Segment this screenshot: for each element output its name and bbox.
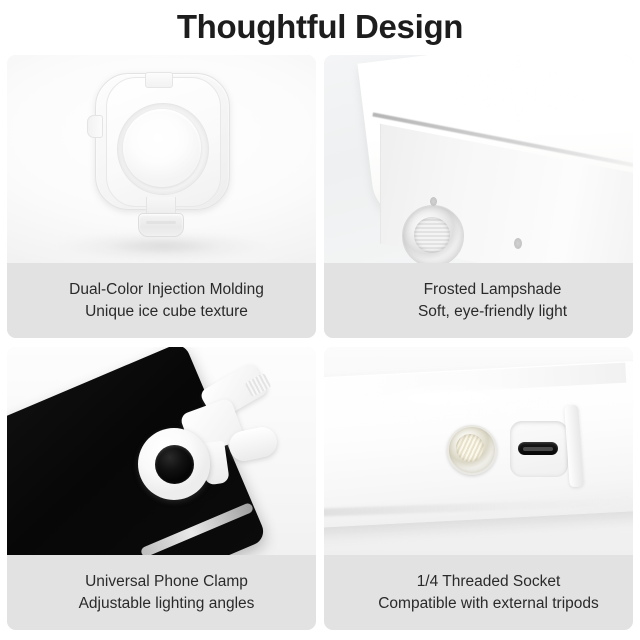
usb-c-port	[518, 442, 558, 455]
threaded-socket-and-usb-port-photo	[324, 347, 633, 555]
vent-hole	[430, 197, 437, 206]
caption-line-primary: Frosted Lampshade	[424, 279, 562, 301]
phone-clamp-on-smartphone-photo	[7, 347, 316, 555]
page-title: Thoughtful Design	[0, 5, 640, 49]
caption-line-secondary: Unique ice cube texture	[85, 301, 248, 323]
caption-line-primary: Dual-Color Injection Molding	[69, 279, 264, 301]
caption-line-primary: Universal Phone Clamp	[85, 571, 248, 593]
vent-hole	[514, 238, 522, 249]
feature-caption: Frosted Lampshade Soft, eye-friendly lig…	[324, 263, 633, 338]
feature-card-dual-color-injection-molding[interactable]: Dual-Color Injection Molding Unique ice …	[7, 55, 316, 338]
clamp-base	[138, 213, 184, 237]
specular-highlight	[444, 61, 594, 121]
product-feature-page: Thoughtful Design Dual-Color Injection M…	[0, 0, 640, 640]
light-top-hinge	[145, 72, 173, 88]
specular-highlight	[344, 381, 554, 415]
caption-line-secondary: Soft, eye-friendly light	[418, 301, 567, 323]
lens-diffuser	[123, 109, 201, 187]
feature-card-grid: Dual-Color Injection Molding Unique ice …	[7, 55, 633, 630]
side-socket	[402, 205, 464, 263]
feature-caption: 1/4 Threaded Socket Compatible with exte…	[324, 555, 633, 630]
cube-led-light-front-view-photo	[7, 55, 316, 263]
caption-line-secondary: Compatible with external tripods	[378, 593, 599, 615]
feature-caption: Dual-Color Injection Molding Unique ice …	[7, 263, 316, 338]
power-button	[87, 115, 103, 138]
feature-card-universal-phone-clamp[interactable]: Universal Phone Clamp Adjustable lightin…	[7, 347, 316, 630]
caption-line-primary: 1/4 Threaded Socket	[417, 571, 561, 593]
camera-lens-opening	[155, 445, 194, 484]
feature-card-frosted-lampshade[interactable]: Frosted Lampshade Soft, eye-friendly lig…	[324, 55, 633, 338]
feature-caption: Universal Phone Clamp Adjustable lightin…	[7, 555, 316, 630]
feature-card-threaded-socket[interactable]: 1/4 Threaded Socket Compatible with exte…	[324, 347, 633, 630]
frosted-lampshade-closeup-photo	[324, 55, 633, 263]
quarter-inch-threaded-socket	[447, 425, 497, 475]
caption-line-secondary: Adjustable lighting angles	[79, 593, 255, 615]
